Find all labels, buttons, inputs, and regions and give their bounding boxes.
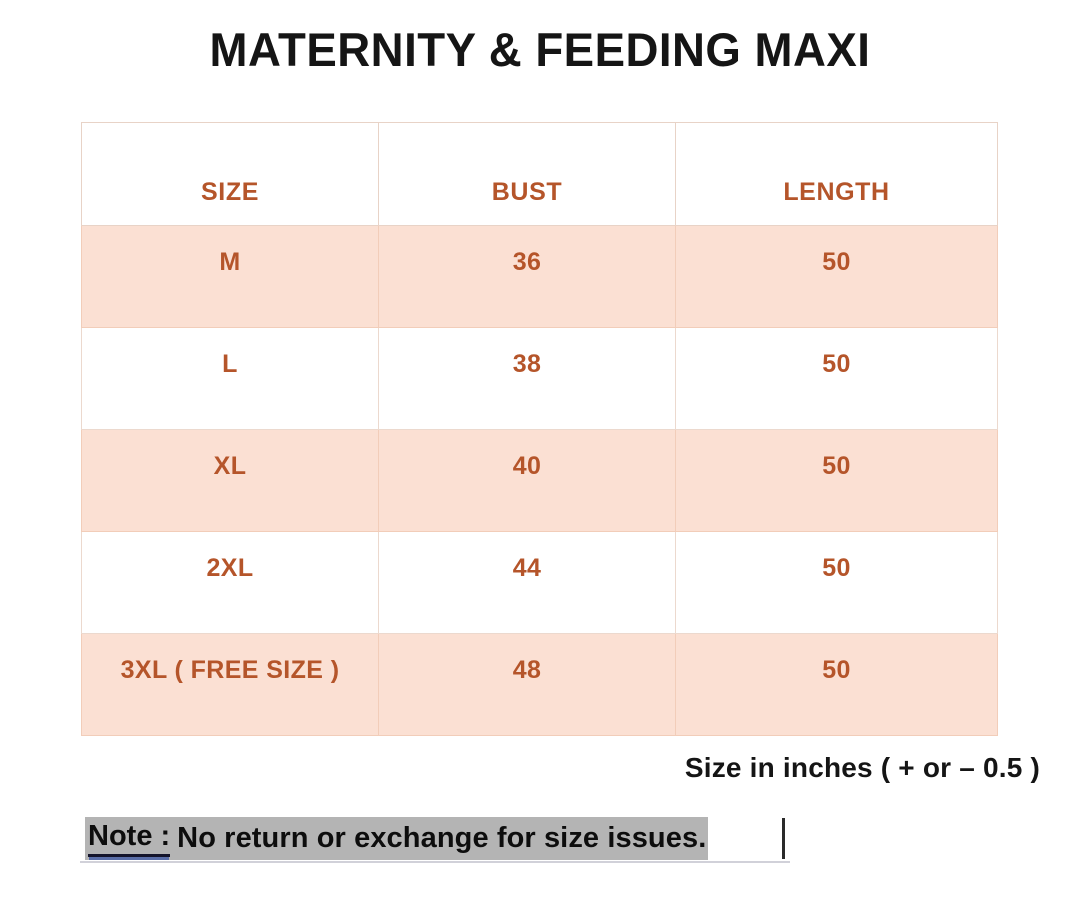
cell-size: 3XL ( FREE SIZE ) xyxy=(82,634,379,736)
cell-bust: 40 xyxy=(379,430,676,532)
column-header-bust: BUST xyxy=(379,123,676,226)
note-label: Note : xyxy=(88,820,170,857)
table-header-row: SIZE BUST LENGTH xyxy=(82,123,998,226)
cell-length: 50 xyxy=(676,328,998,430)
cell-size: L xyxy=(82,328,379,430)
table-row: 3XL ( FREE SIZE ) 48 50 xyxy=(82,634,998,736)
cell-bust: 36 xyxy=(379,226,676,328)
cell-length: 50 xyxy=(676,430,998,532)
cell-length: 50 xyxy=(676,226,998,328)
cell-bust: 38 xyxy=(379,328,676,430)
cell-length: 50 xyxy=(676,634,998,736)
cell-length: 50 xyxy=(676,532,998,634)
cell-size: 2XL xyxy=(82,532,379,634)
cell-size: M xyxy=(82,226,379,328)
table-row: M 36 50 xyxy=(82,226,998,328)
size-unit-note: Size in inches ( + or – 0.5 ) xyxy=(0,752,1040,784)
table-header: SIZE BUST LENGTH xyxy=(82,123,998,226)
cell-bust: 48 xyxy=(379,634,676,736)
bottom-divider xyxy=(80,861,790,863)
cell-bust: 44 xyxy=(379,532,676,634)
cell-size: XL xyxy=(82,430,379,532)
column-header-size: SIZE xyxy=(82,123,379,226)
note-highlight-block: Note : No return or exchange for size is… xyxy=(85,817,708,860)
page-title: MATERNITY & FEEDING MAXI xyxy=(16,22,1064,77)
table-row: 2XL 44 50 xyxy=(82,532,998,634)
size-chart-table: SIZE BUST LENGTH M 36 50 L 38 50 XL 40 5… xyxy=(81,122,998,736)
note-text: No return or exchange for size issues. xyxy=(177,822,706,855)
text-caret xyxy=(782,818,785,859)
table-row: L 38 50 xyxy=(82,328,998,430)
table-row: XL 40 50 xyxy=(82,430,998,532)
table-body: M 36 50 L 38 50 XL 40 50 2XL 44 50 3XL (… xyxy=(82,226,998,736)
column-header-length: LENGTH xyxy=(676,123,998,226)
